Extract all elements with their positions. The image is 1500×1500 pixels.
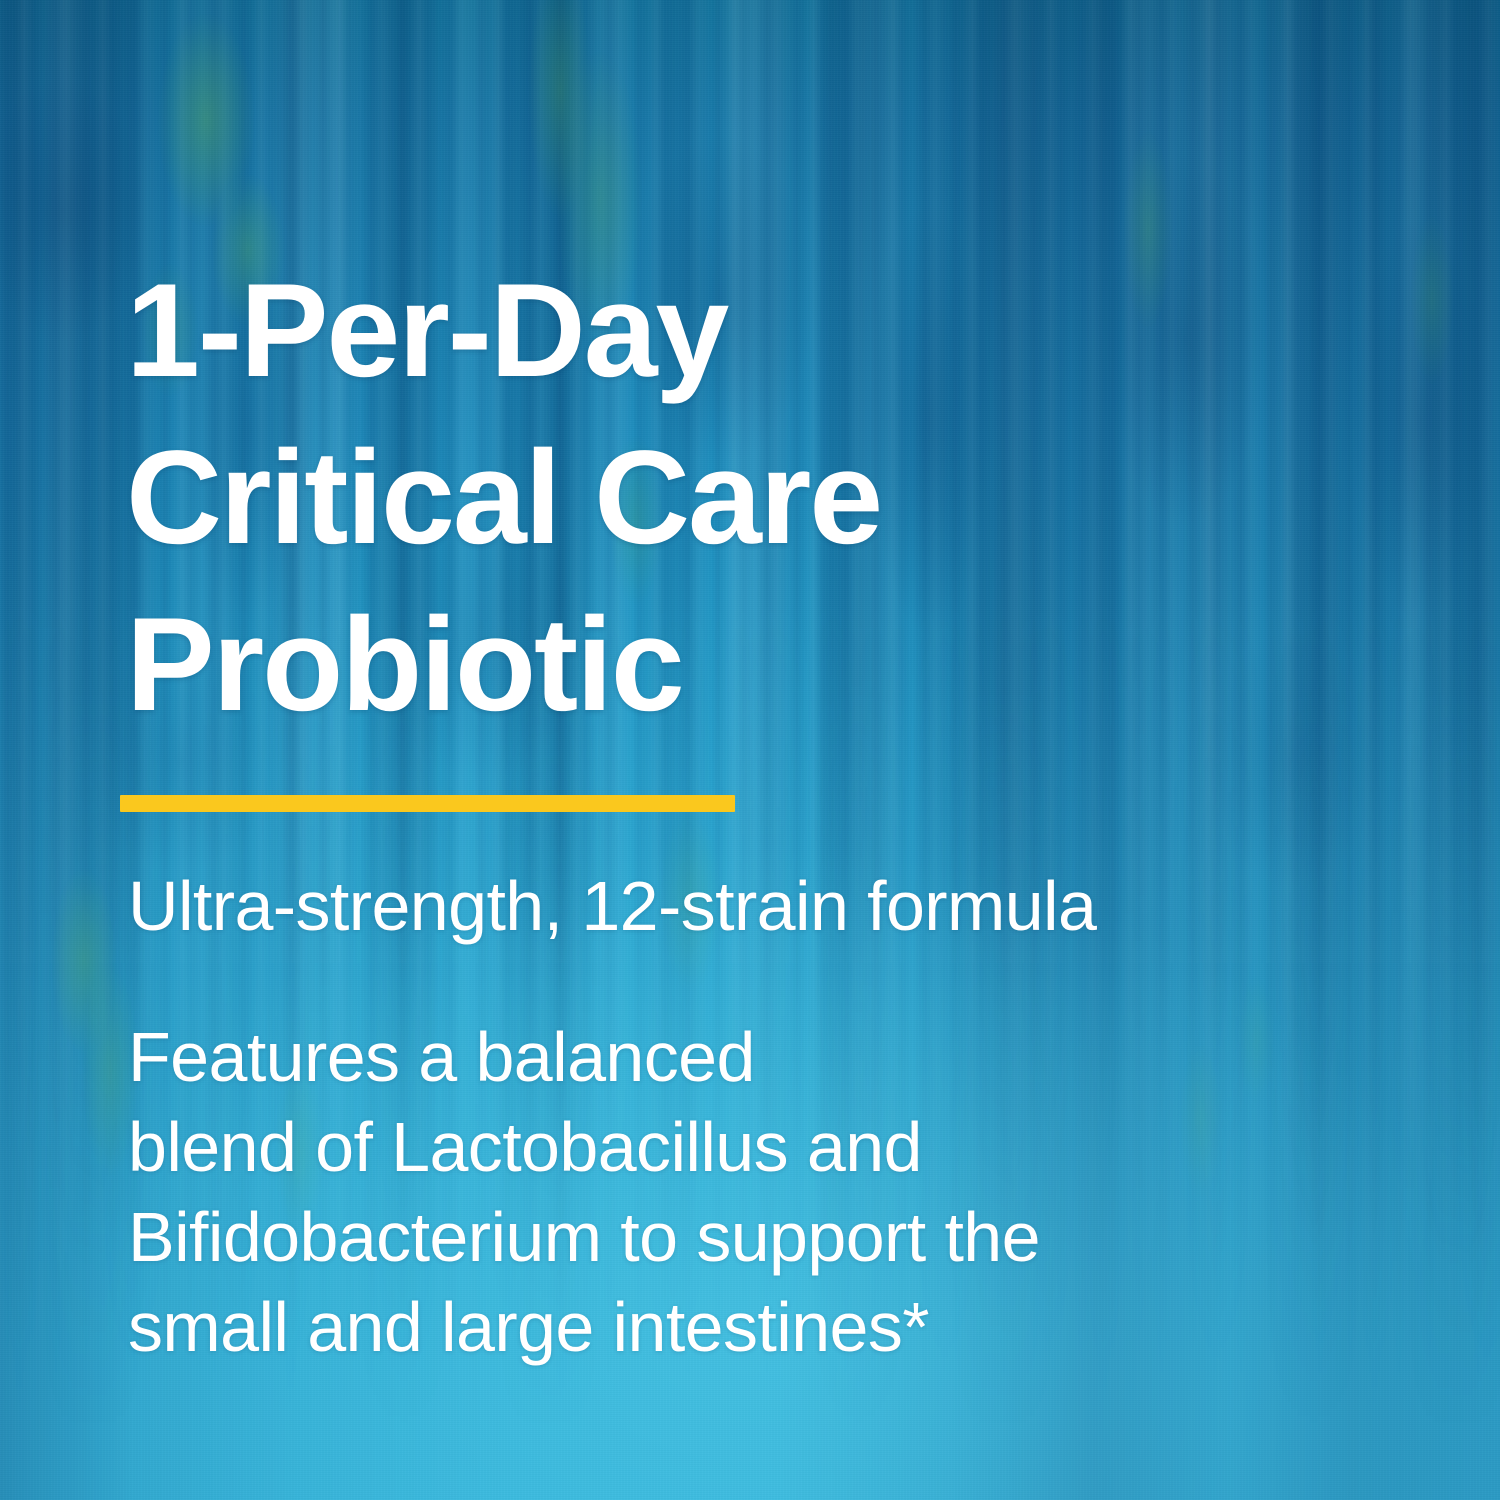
- card-content: 1-Per-Day Critical Care Probiotic Ultra-…: [0, 0, 1500, 1500]
- yellow-accent-rule: [120, 795, 735, 812]
- product-subhead: Ultra-strength, 12-strain formula: [128, 866, 1328, 946]
- product-headline: 1-Per-Day Critical Care Probiotic: [126, 248, 1126, 749]
- product-description: Features a balanced blend of Lactobacill…: [128, 1012, 1258, 1372]
- product-feature-card: 1-Per-Day Critical Care Probiotic Ultra-…: [0, 0, 1500, 1500]
